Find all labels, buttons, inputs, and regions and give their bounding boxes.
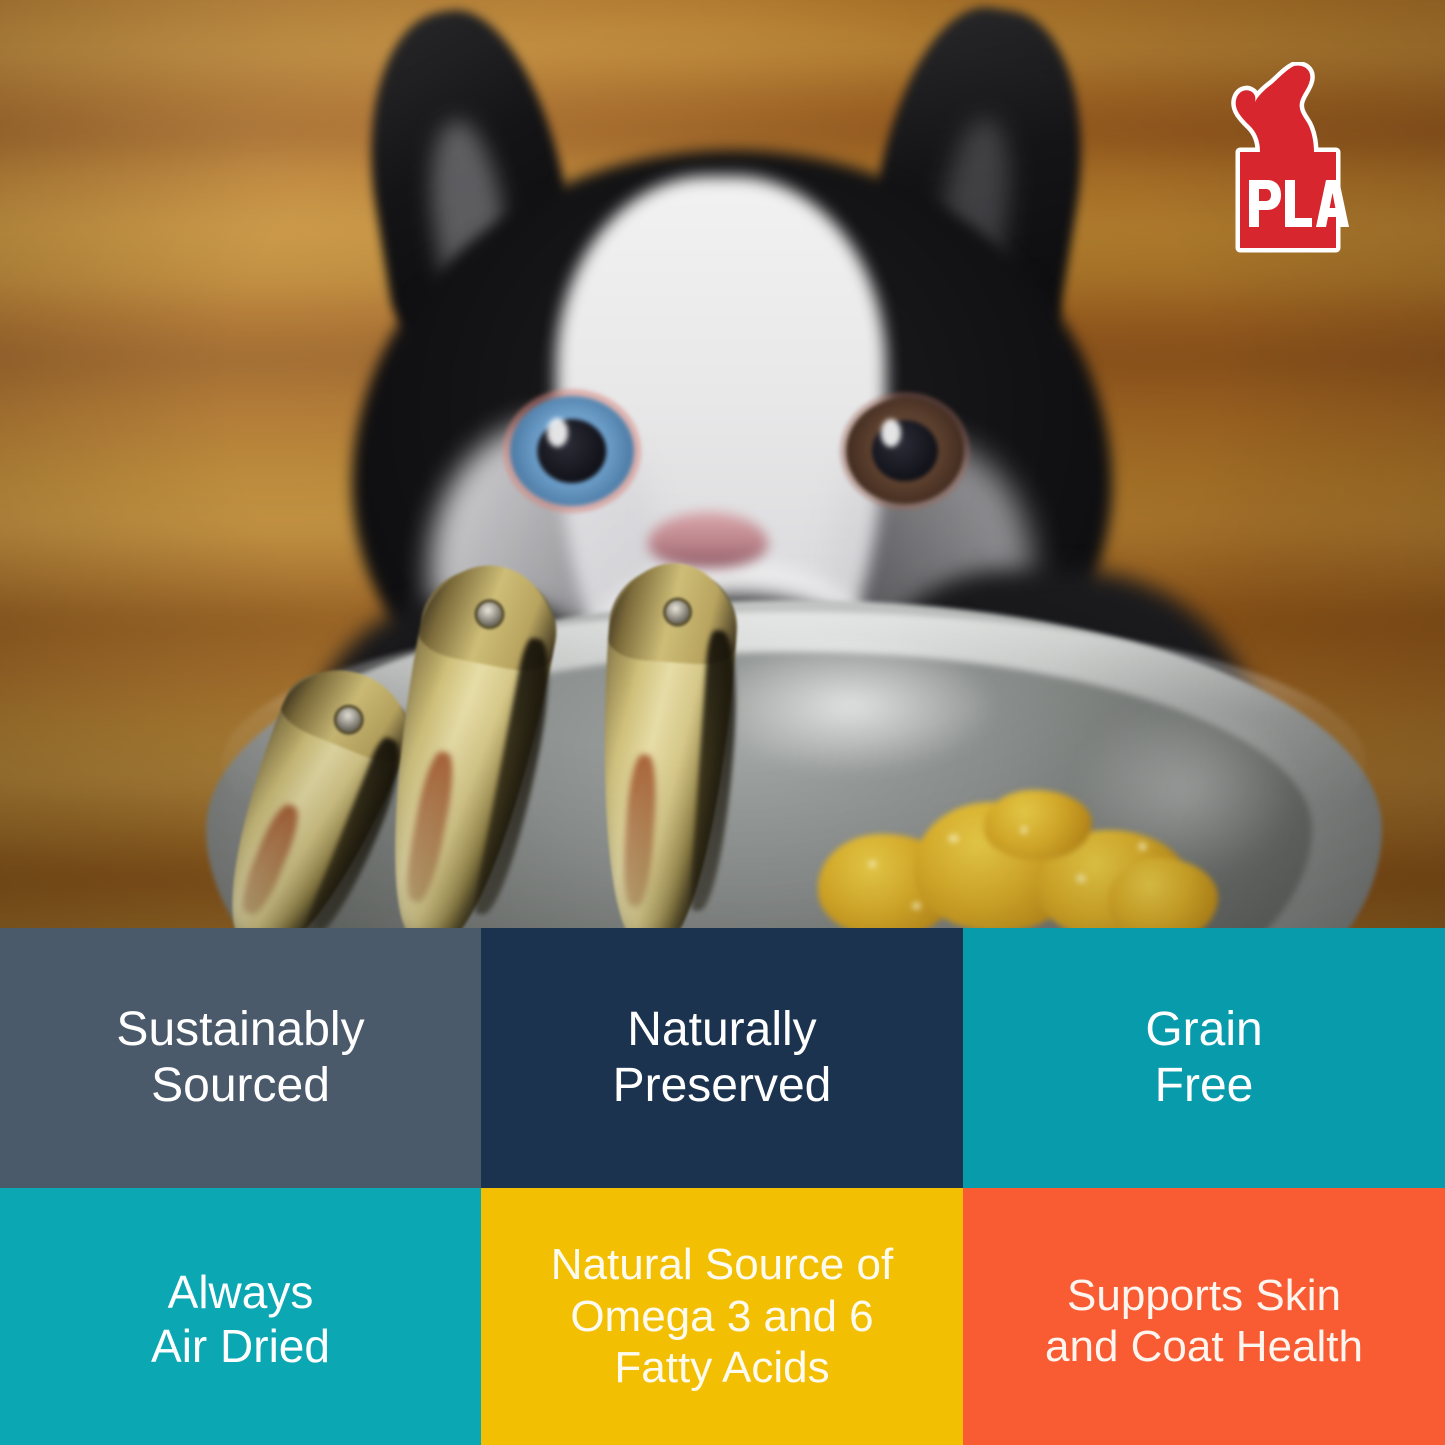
feature-line-2: Omega 3 and 6 bbox=[570, 1292, 873, 1341]
bowl-specular-highlight bbox=[700, 636, 1000, 776]
feature-line-1: Sustainably bbox=[116, 1003, 364, 1056]
feature-tile-text: Always Air Dried bbox=[151, 1266, 330, 1374]
food-speck bbox=[912, 902, 921, 910]
food-speck bbox=[1138, 842, 1147, 851]
feature-line-1: Naturally bbox=[627, 1003, 816, 1056]
feature-tile-naturally-preserved[interactable]: Naturally Preserved bbox=[481, 928, 963, 1188]
feature-line-1: Natural Source of bbox=[551, 1240, 893, 1289]
product-marketing-image: Sustainably Sourced Naturally Preserved … bbox=[0, 0, 1445, 1445]
feature-line-2: Air Dried bbox=[151, 1320, 330, 1372]
dog-eye-left-blue bbox=[510, 396, 634, 506]
food-clump bbox=[984, 790, 1092, 860]
feature-tile-text: Natural Source of Omega 3 and 6 Fatty Ac… bbox=[551, 1239, 893, 1393]
food-clump bbox=[1108, 858, 1218, 928]
yellow-food-mash bbox=[808, 790, 1208, 928]
plato-brand-logo bbox=[1224, 62, 1352, 258]
dog-eye-right-brown bbox=[846, 398, 964, 504]
fish-lateral-stripe bbox=[400, 749, 458, 904]
feature-tile-text: Naturally Preserved bbox=[613, 1002, 832, 1114]
feature-line-1: Always bbox=[168, 1266, 314, 1318]
feature-tile-text: Supports Skin and Coat Health bbox=[1045, 1270, 1363, 1373]
feature-line-2: Sourced bbox=[151, 1059, 330, 1112]
feature-line-1: Grain bbox=[1145, 1003, 1262, 1056]
food-speck bbox=[948, 834, 959, 843]
feature-line-1: Supports Skin bbox=[1067, 1271, 1341, 1320]
food-speck bbox=[1020, 826, 1028, 834]
feature-line-2: Preserved bbox=[613, 1059, 832, 1112]
food-speck bbox=[868, 860, 877, 868]
dog-nose bbox=[648, 512, 768, 568]
feature-line-2: and Coat Health bbox=[1045, 1322, 1363, 1371]
fish-lateral-stripe bbox=[235, 800, 305, 918]
feature-tile-grain-free[interactable]: Grain Free bbox=[963, 928, 1445, 1188]
feature-tile-grid: Sustainably Sourced Naturally Preserved … bbox=[0, 928, 1445, 1445]
feature-line-2: Free bbox=[1155, 1059, 1254, 1112]
product-hero-photo bbox=[0, 0, 1445, 928]
feature-tile-omega-fatty-acids[interactable]: Natural Source of Omega 3 and 6 Fatty Ac… bbox=[481, 1188, 963, 1445]
feature-tile-sustainably-sourced[interactable]: Sustainably Sourced bbox=[0, 928, 481, 1188]
feature-tile-text: Grain Free bbox=[1145, 1002, 1262, 1114]
feature-tile-always-air-dried[interactable]: Always Air Dried bbox=[0, 1188, 481, 1445]
feature-line-3: Fatty Acids bbox=[614, 1343, 829, 1392]
food-speck bbox=[1076, 874, 1086, 883]
feature-tile-skin-coat-health[interactable]: Supports Skin and Coat Health bbox=[963, 1188, 1445, 1445]
feature-tile-text: Sustainably Sourced bbox=[116, 1002, 364, 1114]
fish-lateral-stripe bbox=[620, 754, 659, 908]
eye-glint bbox=[547, 418, 568, 447]
